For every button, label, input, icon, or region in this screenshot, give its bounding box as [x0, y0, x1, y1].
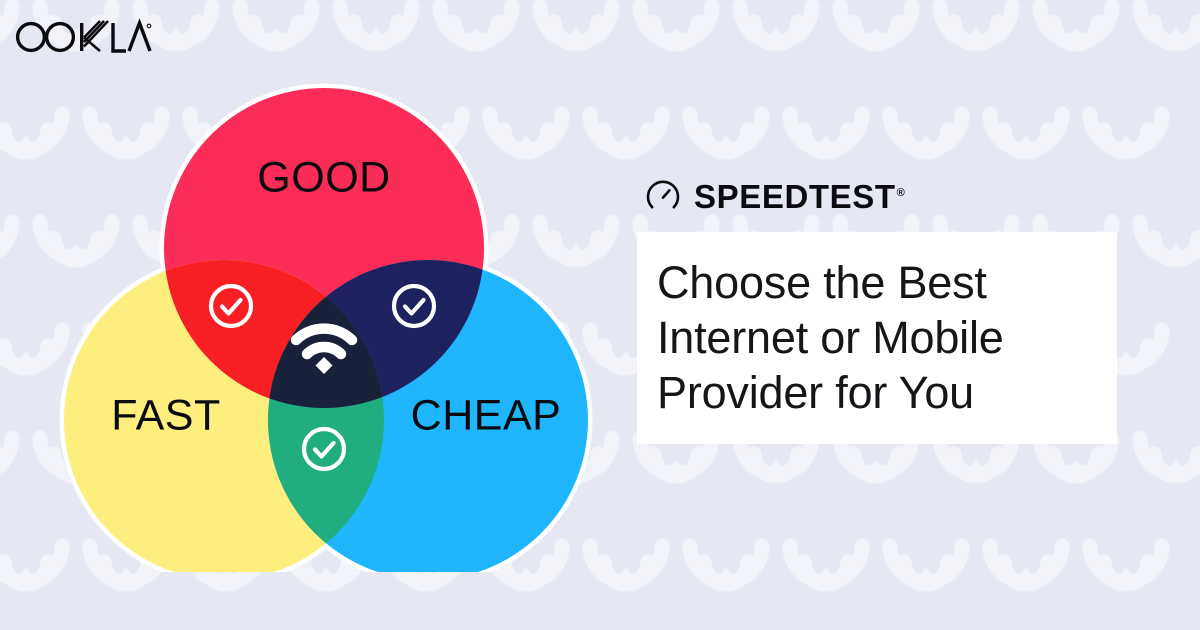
speedtest-registered-mark: ®	[897, 187, 906, 199]
speedtest-wordmark-text: SPEEDTEST	[694, 178, 896, 215]
speedtest-wordmark: SPEEDTEST®	[694, 180, 905, 213]
headline-card: Choose the Best Internet or Mobile Provi…	[637, 232, 1117, 444]
ookla-registered-mark	[147, 24, 151, 28]
promo-banner: GOOD FAST CHEAP SPEEDTEST® Choose the Be…	[0, 0, 1200, 630]
venn-label-fast: FAST	[111, 391, 221, 439]
venn-label-cheap: CHEAP	[411, 391, 562, 439]
venn-diagram: GOOD FAST CHEAP	[56, 68, 596, 572]
venn-label-good: GOOD	[257, 153, 390, 201]
speedometer-gauge-icon	[645, 178, 681, 214]
page-title: Choose the Best Internet or Mobile Provi…	[657, 256, 1117, 421]
ookla-logo[interactable]	[14, 17, 154, 57]
speedtest-logo[interactable]: SPEEDTEST®	[645, 178, 905, 214]
